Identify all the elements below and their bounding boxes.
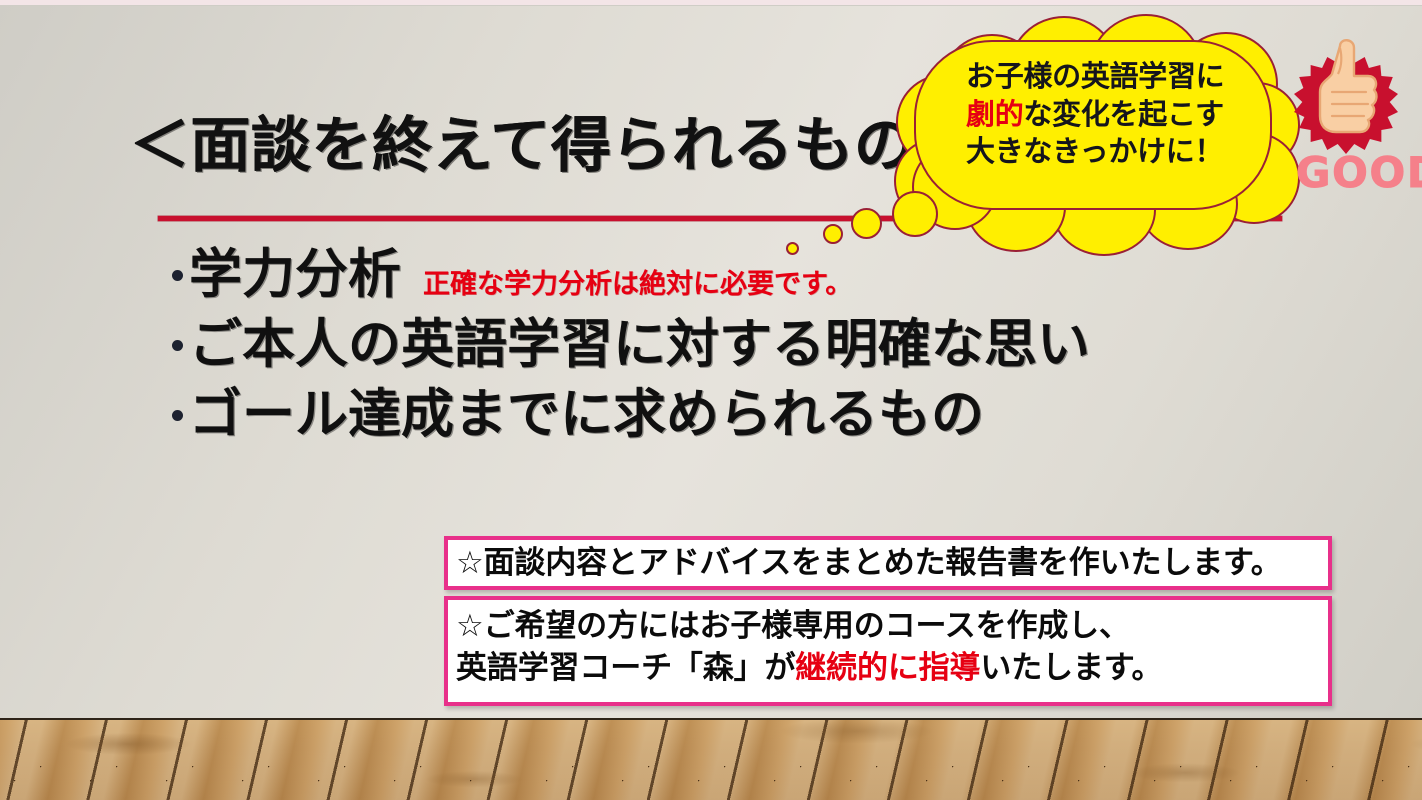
- floor-nails-row-2: [0, 720, 1422, 800]
- list-item: ゴール達成までに求められるもの: [172, 387, 1272, 443]
- bullet-text: ご本人の英語学習に対する明確な思い: [189, 317, 1090, 373]
- thought-bubble: お子様の英語学習に 劇的な変化を起こす 大きなきっかけに！: [888, 12, 1318, 257]
- bullet-dot-icon: [172, 270, 183, 281]
- cloud-line-2-highlight: 劇的: [966, 97, 1023, 131]
- cloud-line-3: 大きなきっかけに！: [966, 133, 1296, 171]
- presentation-slide: ＜面談を終えて得られるもの！＞ お子様の英語学習に 劇的な変化を起こす 大きなき…: [0, 0, 1422, 800]
- note-box-course: ☆ご希望の方にはお子様専用のコースを作成し、 英語学習コーチ「森」が継続的に指導…: [444, 596, 1332, 706]
- note-line-highlight: 継続的に指導: [795, 650, 980, 686]
- top-edge-strip: [0, 0, 1422, 6]
- thumbs-up-icon: [1310, 36, 1382, 156]
- cloud-tail-bubble-small: [823, 224, 843, 244]
- list-item: ご本人の英語学習に対する明確な思い: [172, 317, 1272, 373]
- bullet-text: 学力分析: [189, 247, 401, 303]
- bullet-annotation: 正確な学力分析は絶対に必要です。: [423, 262, 852, 301]
- cloud-tail-bubble-large: [892, 191, 938, 237]
- note-line-pre: 英語学習コーチ「森」が: [456, 650, 795, 686]
- bullet-text: ゴール達成までに求められるもの: [189, 387, 984, 443]
- note-line: 英語学習コーチ「森」が継続的に指導いたします。: [448, 648, 1328, 690]
- note-line: ☆ご希望の方にはお子様専用のコースを作成し、: [448, 600, 1328, 648]
- good-label: GOOD!: [1296, 148, 1422, 197]
- bullet-list: 学力分析 正確な学力分析は絶対に必要です。 ご本人の英語学習に対する明確な思い …: [172, 247, 1272, 444]
- cloud-line-2-rest: な変化を起こす: [1023, 97, 1223, 131]
- note-box-report: ☆面談内容とアドバイスをまとめた報告書を作いたします。: [444, 536, 1332, 590]
- cloud-line-2: 劇的な変化を起こす: [966, 96, 1296, 134]
- cloud-line-1: お子様の英語学習に: [966, 58, 1296, 96]
- cloud-tail-bubble-tiny: [786, 242, 799, 255]
- cloud-tail-bubble-medium: [851, 208, 882, 239]
- note-line-post: いたします。: [980, 650, 1162, 686]
- cloud-message: お子様の英語学習に 劇的な変化を起こす 大きなきっかけに！: [966, 58, 1296, 171]
- note-line: ☆面談内容とアドバイスをまとめた報告書を作いたします。: [448, 540, 1328, 585]
- bullet-dot-icon: [172, 410, 183, 421]
- wooden-floor: [0, 718, 1422, 800]
- bullet-dot-icon: [172, 340, 183, 351]
- thumbs-up-badge: [1288, 44, 1410, 164]
- list-item: 学力分析 正確な学力分析は絶対に必要です。: [172, 247, 1272, 303]
